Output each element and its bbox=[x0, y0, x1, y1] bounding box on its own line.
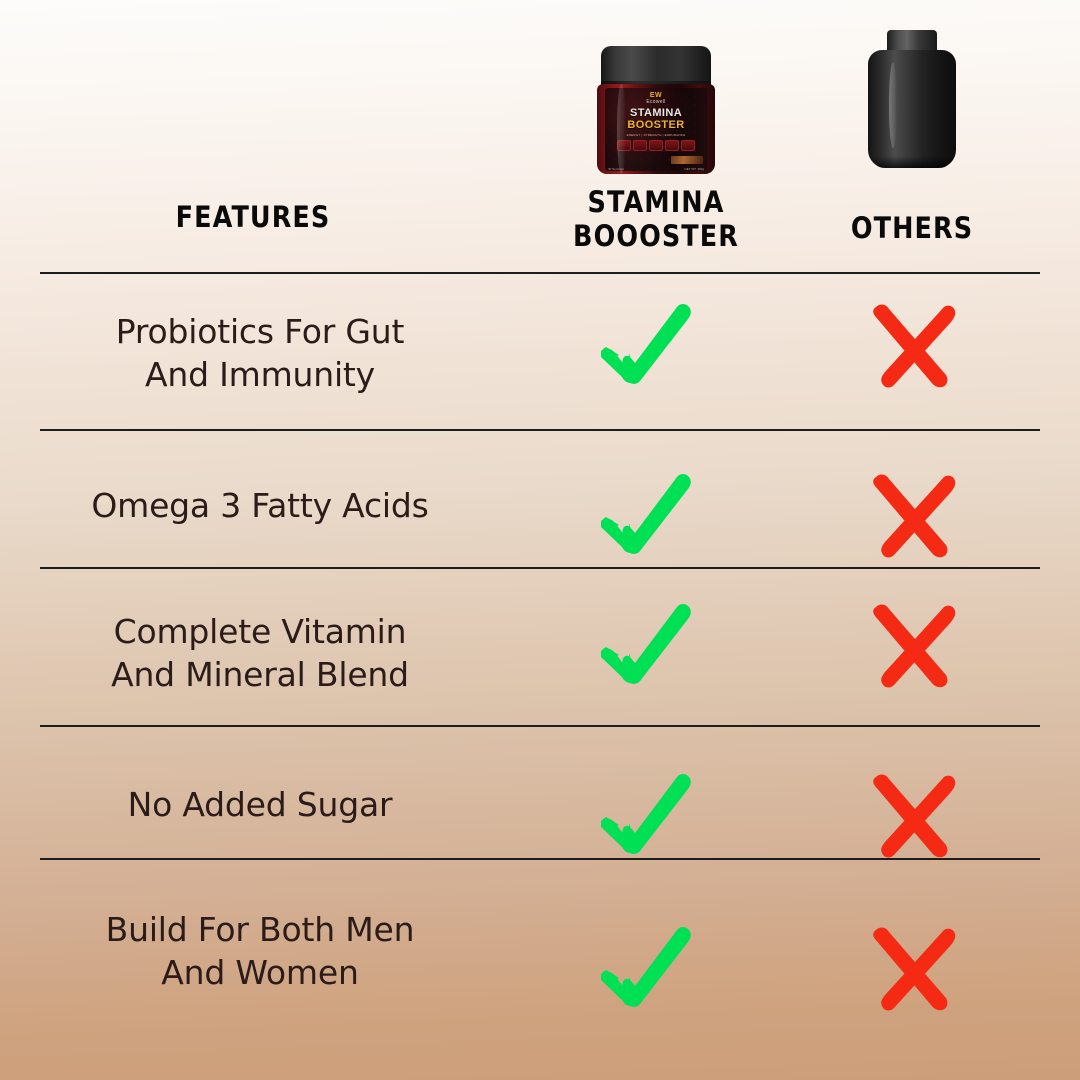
others-jar-lid bbox=[887, 30, 937, 52]
row-divider bbox=[40, 429, 1040, 431]
product-check-mark bbox=[585, 765, 705, 865]
feature-label: Probiotics For GutAnd Immunity bbox=[10, 310, 510, 396]
column-header-product: STAMINA BOOOSTER bbox=[524, 185, 788, 253]
feature-label: Build For Both MenAnd Women bbox=[10, 908, 510, 994]
cross-icon bbox=[850, 765, 970, 865]
check-icon bbox=[585, 765, 705, 865]
cross-icon bbox=[850, 918, 970, 1018]
cross-icon bbox=[850, 295, 970, 395]
product-check-mark bbox=[585, 595, 705, 695]
jar-lid bbox=[601, 46, 711, 88]
feature-label-line: Omega 3 Fatty Acids bbox=[10, 484, 510, 527]
cross-icon bbox=[850, 465, 970, 565]
column-header-product-line2: BOOOSTER bbox=[524, 219, 788, 253]
jar-highlight bbox=[617, 84, 626, 174]
others-jar-body bbox=[868, 50, 956, 168]
row-divider bbox=[40, 725, 1040, 727]
check-icon bbox=[585, 295, 705, 395]
feature-label: Complete VitaminAnd Mineral Blend bbox=[10, 610, 510, 696]
brand-name: Ecowell bbox=[646, 100, 665, 105]
feature-label-line: And Immunity bbox=[10, 353, 510, 396]
cross-icon bbox=[850, 595, 970, 695]
feature-label-line: And Women bbox=[10, 951, 510, 994]
others-cross-mark bbox=[850, 465, 970, 565]
feature-label: No Added Sugar bbox=[10, 783, 510, 826]
comparison-infographic: EW Ecowell STAMINA BOOSTER ENERGY | STRE… bbox=[0, 0, 1080, 1080]
jar-badges bbox=[617, 140, 695, 151]
feature-label-line: No Added Sugar bbox=[10, 783, 510, 826]
feature-label-line: Build For Both Men bbox=[10, 908, 510, 951]
table-header: FEATURES STAMINA BOOOSTER OTHERS bbox=[0, 186, 1080, 266]
jar-title-line2: BOOSTER bbox=[627, 119, 684, 131]
jar-net-weight: NET WT. 300g bbox=[685, 167, 704, 171]
jar-flavor-image bbox=[671, 156, 703, 164]
feature-label-line: Complete Vitamin bbox=[10, 610, 510, 653]
jar-badge bbox=[665, 140, 679, 151]
product-check-mark bbox=[585, 465, 705, 565]
column-header-others: OTHERS bbox=[789, 211, 1035, 245]
others-cross-mark bbox=[850, 295, 970, 395]
jar-subtitle: ENERGY | STRENGTH | ENDURANCE bbox=[627, 133, 686, 137]
column-header-features: FEATURES bbox=[112, 200, 394, 234]
jar-body: EW Ecowell STAMINA BOOSTER ENERGY | STRE… bbox=[597, 84, 715, 174]
jar-badge bbox=[681, 140, 695, 151]
stamina-booster-jar-image: EW Ecowell STAMINA BOOSTER ENERGY | STRE… bbox=[597, 46, 715, 174]
check-icon bbox=[585, 918, 705, 1018]
check-icon bbox=[585, 465, 705, 565]
jar-badge bbox=[649, 140, 663, 151]
others-jar-image bbox=[868, 30, 956, 168]
row-divider bbox=[40, 567, 1040, 569]
product-check-mark bbox=[585, 918, 705, 1018]
others-cross-mark bbox=[850, 595, 970, 695]
row-divider bbox=[40, 272, 1040, 274]
others-jar-highlight bbox=[889, 62, 897, 148]
others-cross-mark bbox=[850, 765, 970, 865]
product-check-mark bbox=[585, 295, 705, 395]
column-header-product-line1: STAMINA bbox=[524, 185, 788, 219]
jar-title-line1: STAMINA bbox=[630, 108, 682, 119]
feature-label-line: And Mineral Blend bbox=[10, 653, 510, 696]
feature-label: Omega 3 Fatty Acids bbox=[10, 484, 510, 527]
brand-mark: EW bbox=[650, 92, 662, 99]
others-cross-mark bbox=[850, 918, 970, 1018]
product-images: EW Ecowell STAMINA BOOSTER ENERGY | STRE… bbox=[0, 0, 1080, 180]
check-icon bbox=[585, 595, 705, 695]
jar-badge bbox=[633, 140, 647, 151]
feature-label-line: Probiotics For Gut bbox=[10, 310, 510, 353]
